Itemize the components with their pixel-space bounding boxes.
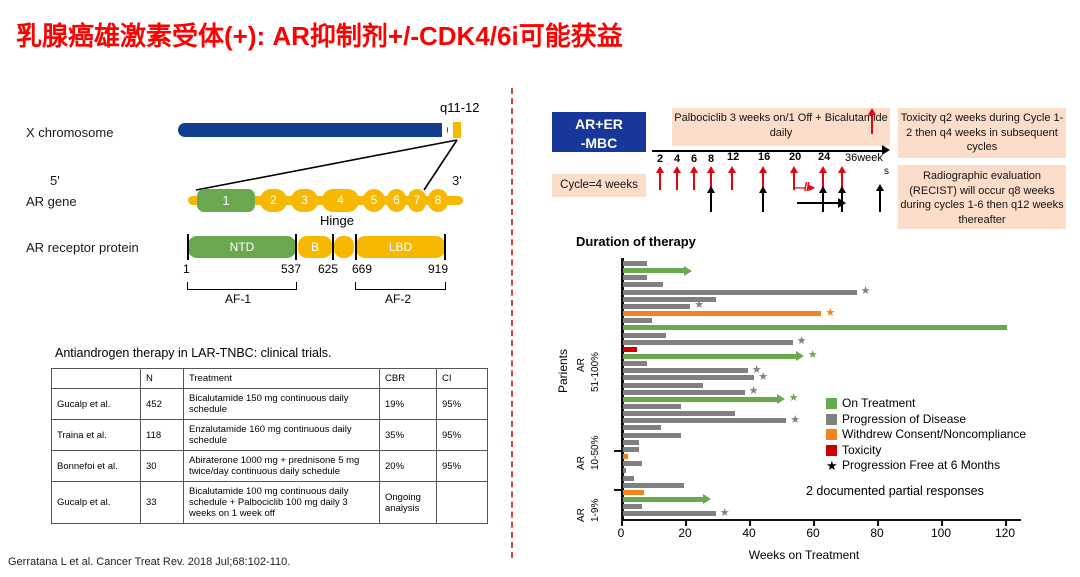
exon-2: 2 [260,189,287,212]
progression-free-star-icon: ★ [720,508,730,519]
cell-ci: 95% [437,451,488,482]
swimmer-bar [623,440,639,445]
header-ci: CI [437,369,488,389]
x-tick [685,519,687,526]
trials-table: N Treatment CBR CI Gucalp et al. 452 Bic… [51,368,488,524]
cell-ci [437,482,488,524]
week-mark-16: 16 [758,152,768,163]
header-treatment: Treatment [184,369,380,389]
swimmer-bar [623,347,637,352]
x-tick-label: 40 [737,527,761,539]
table-row: Bonnefoi et al. 30 Abiraterone 1000 mg +… [52,451,488,482]
progression-free-star-icon: ★ [789,393,799,404]
swimmer-bar [623,504,642,509]
swimmer-bar [623,304,690,309]
cell-ci: 95% [437,420,488,451]
exon-5: 5 [363,189,385,212]
header-cbr: CBR [380,369,437,389]
toxicity-arrow-4 [676,172,678,190]
cell-treatment: Abiraterone 1000 mg + prednisone 5 mg tw… [184,451,380,482]
week-mark-24: 24 [818,152,828,163]
chart-title: Duration of therapy [576,234,696,249]
y-group-label-ar-51-100: AR [576,358,587,372]
legend-item-withdrew: Withdrew Consent/Noncompliance [826,427,1026,443]
y-group-label-ar-10-50-range: 10-50% [590,436,601,470]
swimmer-bar [623,275,647,280]
swimmer-bar [623,383,703,388]
population-line-1: AR+ER [552,115,646,134]
toxicity-arrow-2 [659,172,661,190]
timeline-break-icon: —//▸ [793,180,814,194]
domain-hinge-segment [334,236,354,258]
y-group-line1: AR [576,358,587,372]
position-625: 625 [318,262,338,276]
population-box: AR+ER -MBC [552,112,646,152]
legend-swatch-icon [826,445,837,456]
cell-cbr: 20% [380,451,437,482]
x-tick-label: 100 [929,527,953,539]
page-title: 乳腺癌雄激素受体(+): AR抑制剂+/-CDK4/6i可能获益 [16,16,1066,53]
table-caption: Antiandrogen therapy in LAR-TNBC: clinic… [55,346,332,360]
x-tick-label: 20 [673,527,697,539]
x-tick [813,519,815,526]
progression-free-star-icon: ★ [861,286,871,297]
toxicity-schedule-box: Toxicity q2 weeks during Cycle 1-2 then … [898,108,1066,158]
chart-x-axis [621,519,1021,521]
cell-n: 33 [141,482,184,524]
exon-6: 6 [387,189,406,212]
legend-swatch-icon [826,414,837,425]
cell-treatment: Enzalutamide 160 mg continuous daily sch… [184,420,380,451]
progression-free-star-icon: ★ [790,415,800,426]
exon-3: 3 [291,189,318,212]
citation: Gerratana L et al. Cancer Treat Rev. 201… [8,556,290,568]
swimmer-bar [623,497,703,502]
cell-n: 118 [141,420,184,451]
x-tick-label: 60 [801,527,825,539]
swimmer-bar [623,318,652,323]
progression-free-star-icon: ★ [825,308,835,319]
cell-study: Gucalp et al. [52,389,141,420]
swimmer-bar [623,368,748,373]
swimmer-bar [623,333,666,338]
end-week-label-sub: s [884,166,889,177]
radiographic-arrow-8 [710,192,712,212]
swimmer-bar [623,375,754,380]
y-group-line2: 51-100% [590,352,601,392]
af2-label: AF-2 [385,292,411,306]
cell-cbr: 19% [380,389,437,420]
swimmer-bar [623,425,661,430]
table-row: Traina et al. 118 Enzalutamide 160 mg co… [52,420,488,451]
population-line-2: -MBC [552,134,646,153]
x-tick [877,519,879,526]
ongoing-arrowhead [684,266,692,276]
swimmer-bar [623,340,793,345]
swimmer-bar [623,461,642,466]
x-tick [621,519,623,526]
slide-root: 乳腺癌雄激素受体(+): AR抑制剂+/-CDK4/6i可能获益 X chrom… [0,0,1080,577]
swimmer-bar [623,476,634,481]
legend-label: Progression Free at 6 Months [842,458,1000,474]
chart-note: 2 documented partial responses [806,484,984,498]
tick-pos-625 [332,234,334,260]
protein-label: AR receptor protein [26,240,139,255]
ongoing-arrowhead [796,351,804,361]
exon-4: 4 [322,189,359,212]
swimmer-bar [623,290,857,295]
header-study [52,369,141,389]
cell-cbr: Ongoing analysis [380,482,437,524]
tick-pos-1 [187,234,189,260]
star-icon: ★ [826,459,837,472]
chart-legend: On Treatment Progression of Disease With… [826,396,1026,474]
gene-label: AR gene [26,194,77,209]
week-mark-20: 20 [789,152,799,163]
swimmer-bar [623,511,716,516]
cell-study: Traina et al. [52,420,141,451]
legend-item-progression-free: ★ Progression Free at 6 Months [826,458,1026,474]
x-tick [749,519,751,526]
swimmer-bar [623,483,684,488]
y-group-line2: 1-9% [590,499,601,522]
y-group-line2: 10-50% [590,436,601,470]
legend-item-on-treatment: On Treatment [826,396,1026,412]
chart-y-axis-label: Parients [556,349,570,393]
cell-study: Bonnefoi et al. [52,451,141,482]
radiographic-arrow-16 [762,192,764,212]
swimmer-bar [623,325,1007,330]
swimmer-bar [623,404,681,409]
ongoing-arrowhead [703,494,711,504]
domain-ntd: NTD [188,236,296,258]
panel-divider [511,88,513,558]
progression-free-star-icon: ★ [694,300,704,311]
radiographic-arrow-36 [879,190,881,212]
five-prime-label: 5' [50,173,60,188]
cell-n: 30 [141,451,184,482]
legend-label: Withdrew Consent/Noncompliance [842,427,1026,443]
header-n: N [141,369,184,389]
legend-swatch-icon [826,398,837,409]
exon-1: 1 [197,189,255,212]
cell-treatment: Bicalutamide 100 mg continuous daily sch… [184,482,380,524]
week-mark-6: 6 [687,154,701,165]
x-tick-label: 80 [865,527,889,539]
swimmer-bar [623,447,639,452]
y-group-line1: AR [576,508,587,522]
hinge-label: Hinge [320,213,354,228]
progression-free-star-icon: ★ [797,336,807,347]
band-label: q11-12 [440,100,480,115]
three-prime-label: 3' [452,173,462,188]
week-mark-12: 12 [727,152,737,163]
swimmer-bar [623,361,647,366]
exon-7: 7 [408,189,426,212]
swimmer-bar [623,490,644,495]
y-group-line1: AR [576,456,587,470]
group-separator-tick-1 [614,450,623,452]
x-tick-label: 0 [609,527,633,539]
legend-label: On Treatment [842,396,915,412]
cell-ci: 95% [437,389,488,420]
legend-item-progression: Progression of Disease [826,412,1026,428]
swimmer-bar [623,261,647,266]
progression-free-star-icon: ★ [758,372,768,383]
legend-item-toxicity: Toxicity [826,443,1026,459]
cell-cbr: 35% [380,420,437,451]
table-header-row: N Treatment CBR CI [52,369,488,389]
brace-af2 [355,282,446,290]
end-week-label: 36week [845,152,883,164]
treatment-box: Palbociclib 3 weeks on/1 Off + Bicalutam… [672,108,890,146]
x-tick [1005,519,1007,526]
swimmer-bar [623,268,684,273]
swimmer-bar [623,418,786,423]
week-mark-2: 2 [653,154,667,165]
table-row: Gucalp et al. 452 Bicalutamide 150 mg co… [52,389,488,420]
week-mark-4: 4 [670,154,684,165]
schema-timeline-arrowhead [882,145,890,155]
x-tick [941,519,943,526]
progression-free-star-icon: ★ [749,386,759,397]
position-537: 537 [281,262,301,276]
cell-n: 452 [141,389,184,420]
swimmer-bar [623,390,745,395]
domain-b: B [298,236,332,258]
y-group-label-ar-10-50: AR [576,456,587,470]
domain-lbd: LBD [356,236,445,258]
radiographic-schedule-box: Radiographic evaluation (RECIST) will oc… [898,165,1066,229]
cell-treatment: Bicalutamide 150 mg continuous daily sch… [184,389,380,420]
tick-pos-919 [444,234,446,260]
legend-swatch-icon [826,429,837,440]
swimmer-bar [623,354,796,359]
toxicity-arrow-12 [731,172,733,190]
week-mark-8: 8 [704,154,718,165]
group-separator-tick-2 [614,489,623,491]
table-row: Gucalp et al. 33 Bicalutamide 100 mg con… [52,482,488,524]
swimmer-bar [623,411,735,416]
exon-8: 8 [428,189,448,212]
progression-free-star-icon: ★ [808,350,818,361]
af1-label: AF-1 [225,292,251,306]
position-919: 919 [428,262,448,276]
radiographic-continuation-line [797,202,839,204]
brace-af1 [187,282,297,290]
swimmer-bar [623,433,681,438]
position-1: 1 [183,262,190,276]
position-669: 669 [352,262,372,276]
y-group-label-ar-1-9-range: 1-9% [590,499,601,522]
ongoing-arrowhead [777,394,785,404]
swimmer-bar [623,468,626,473]
swimmer-bar [623,311,821,316]
x-tick-label: 120 [993,527,1017,539]
y-group-label-ar-51-100-range: 51-100% [590,352,601,392]
y-group-label-ar-1-9: AR [576,508,587,522]
chart-x-axis-title: Weeks on Treatment [744,549,864,562]
cell-study: Gucalp et al. [52,482,141,524]
legend-label: Progression of Disease [842,412,966,428]
toxicity-arrow-6 [693,172,695,190]
swimmer-bar [623,282,663,287]
swimmer-bar [623,397,777,402]
tick-pos-537 [295,234,297,260]
cycle-box: Cycle=4 weeks [552,174,646,197]
tick-pos-669 [355,234,357,260]
swimmer-bar [623,454,628,459]
legend-label: Toxicity [842,443,881,459]
toxicity-arrow-36 [871,114,873,134]
